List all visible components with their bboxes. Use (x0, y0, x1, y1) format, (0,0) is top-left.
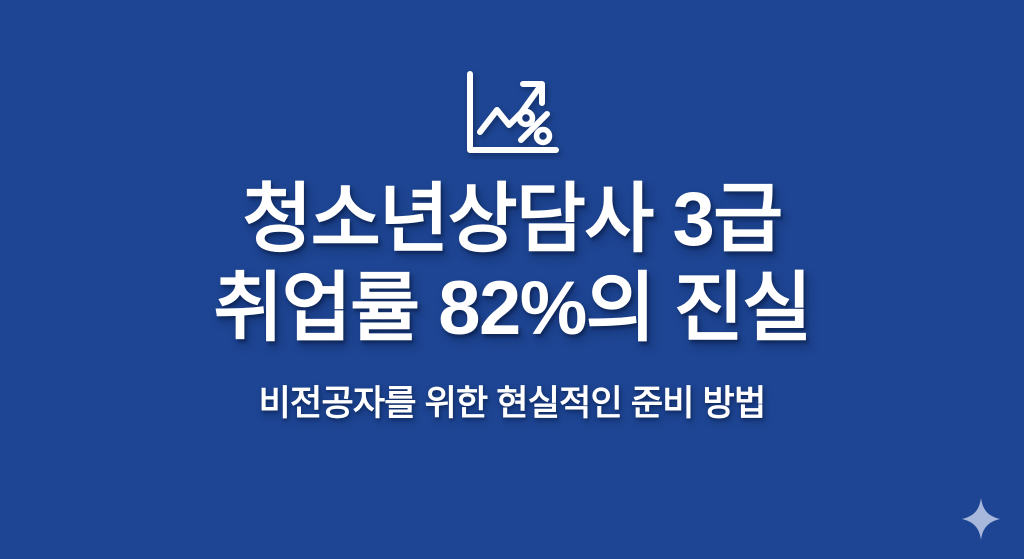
subtitle: 비전공자를 위한 현실적인 준비 방법 (0, 382, 1024, 426)
headline-line-2: 취업률 82%의 진실 (40, 265, 984, 354)
headline-line-1: 청소년상담사 3급 (40, 176, 984, 265)
four-point-star-icon (962, 498, 1000, 540)
headline-block: 청소년상담사 3급 취업률 82%의 진실 (0, 176, 1024, 354)
growth-percent-chart-icon (0, 70, 1024, 158)
thumbnail-canvas: 청소년상담사 3급 취업률 82%의 진실 비전공자를 위한 현실적인 준비 방… (0, 0, 1024, 559)
